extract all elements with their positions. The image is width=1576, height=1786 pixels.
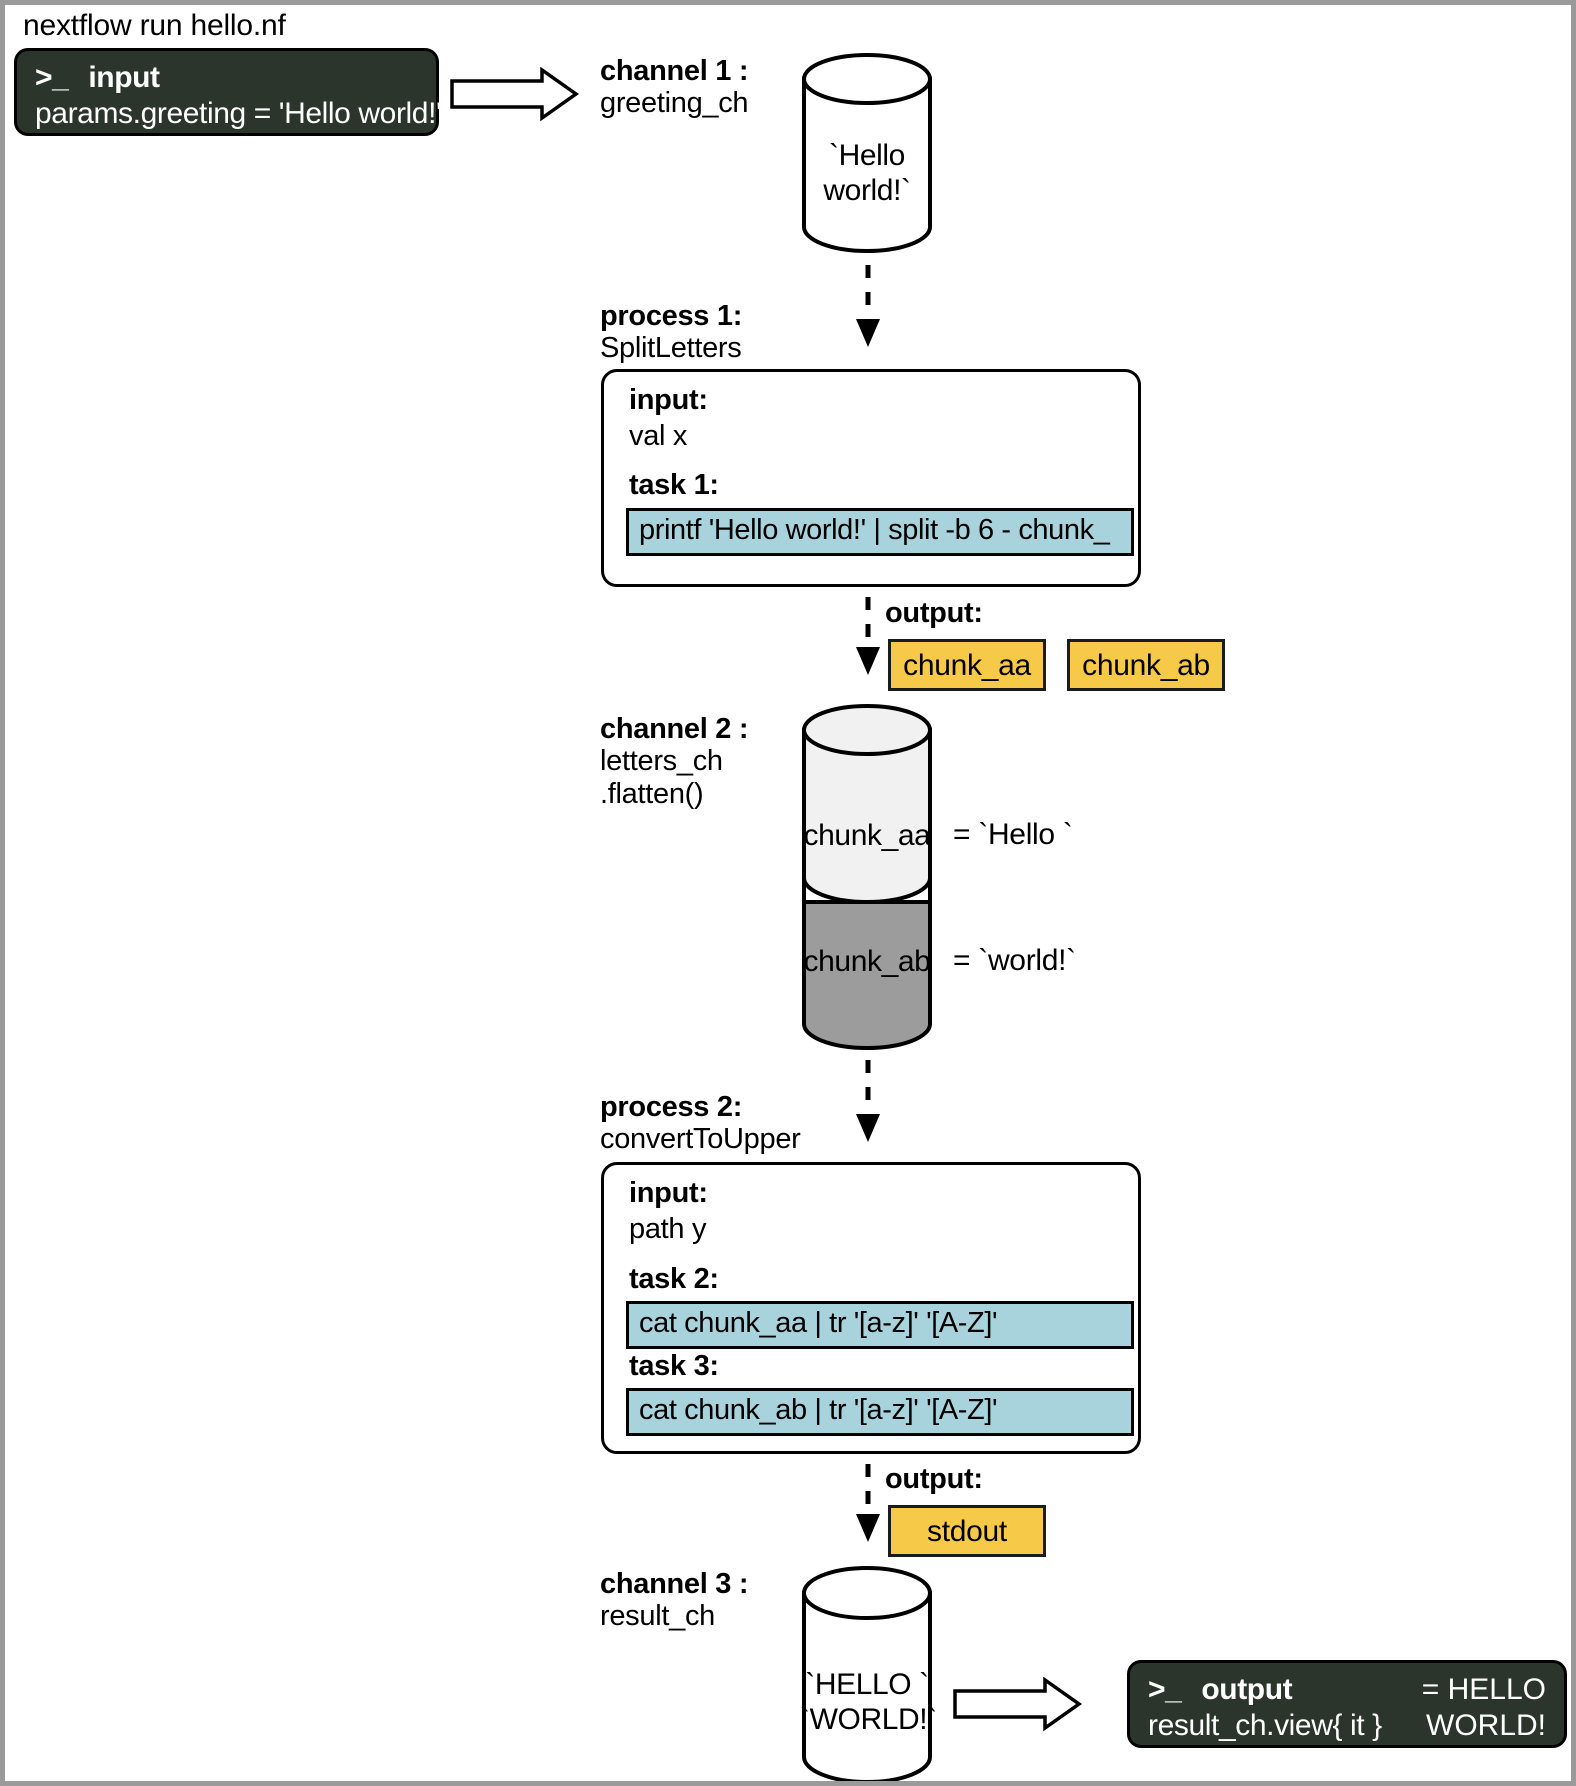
channel-2-cylinder: chunk_aa chunk_ab <box>800 702 934 1050</box>
arrow-input-to-channel1 <box>450 67 580 127</box>
process-2-task-2-label: task 2: <box>629 1263 719 1296</box>
arrow-process2-output <box>848 1462 888 1549</box>
input-terminal-title: >_ input <box>35 61 418 95</box>
process-2-input-label: input: <box>629 1177 708 1210</box>
process-2-title: process 2: <box>600 1091 801 1123</box>
channel-2-operator: .flatten() <box>600 778 748 810</box>
arrow-process1-output <box>848 595 888 682</box>
process-1-task-1-command: printf 'Hello world!' | split -b 6 - chu… <box>626 508 1134 556</box>
channel-2-title: channel 2 : <box>600 713 748 745</box>
output-terminal-title: >_ output <box>1148 1673 1292 1707</box>
process-1-output-label: output: <box>885 597 983 630</box>
input-terminal-body: params.greeting = 'Hello world!' <box>35 97 418 131</box>
output-result-line-1: = HELLO <box>1422 1673 1546 1707</box>
channel-3-name: result_ch <box>600 1600 748 1632</box>
process-1-input-value: val x <box>629 420 687 453</box>
input-terminal-box: >_ input params.greeting = 'Hello world!… <box>14 48 439 136</box>
channel-3-label: channel 3 : result_ch <box>600 1568 748 1633</box>
process-2-output-label: output: <box>885 1463 983 1496</box>
channel-1-cylinder: `Helloworld!` <box>800 53 934 253</box>
output-terminal-box: >_ output = HELLO result_ch.view{ it } W… <box>1127 1660 1567 1748</box>
arrow-channel2-to-process2 <box>848 1058 888 1149</box>
channel-2-label: channel 2 : letters_ch .flatten() <box>600 713 748 810</box>
nextflow-run-command: nextflow run hello.nf <box>23 9 286 43</box>
channel-3-title: channel 3 : <box>600 1568 748 1600</box>
process-1-name: SplitLetters <box>600 332 742 364</box>
channel-2-item-1-value: = `Hello ` <box>953 818 1073 852</box>
process-1-task-1-label: task 1: <box>629 469 719 502</box>
output-file-chunk-ab: chunk_ab <box>1067 639 1225 691</box>
output-terminal-body: result_ch.view{ it } <box>1148 1709 1382 1743</box>
process-1-label: process 1: SplitLetters <box>600 300 742 365</box>
process-2-input-value: path y <box>629 1213 706 1246</box>
process-2-task-3-command: cat chunk_ab | tr '[a-z]' '[A-Z]' <box>626 1388 1134 1436</box>
channel-2-name: letters_ch <box>600 745 748 777</box>
process-2-box: input: path y task 2: cat chunk_aa | tr … <box>601 1162 1141 1454</box>
channel-2-item-2-value: = `world!` <box>953 944 1076 978</box>
process-2-task-2-command: cat chunk_aa | tr '[a-z]' '[A-Z]' <box>626 1301 1134 1349</box>
diagram-canvas: nextflow run hello.nf >_ input params.gr… <box>0 0 1576 1786</box>
output-file-chunk-aa: chunk_aa <box>888 639 1046 691</box>
output-file-stdout: stdout <box>888 1505 1046 1557</box>
channel-3-cylinder: `HELLO ``WORLD!` <box>800 1565 934 1786</box>
process-2-name: convertToUpper <box>600 1123 801 1155</box>
prompt-icon: >_ <box>35 61 68 94</box>
process-1-input-label: input: <box>629 384 708 417</box>
arrow-channel3-to-output <box>953 1677 1083 1737</box>
prompt-icon: >_ <box>1148 1673 1181 1706</box>
arrow-channel1-to-process1 <box>848 263 888 354</box>
process-1-title: process 1: <box>600 300 742 332</box>
process-1-box: input: val x task 1: printf 'Hello world… <box>601 369 1141 587</box>
channel-1-name: greeting_ch <box>600 87 748 119</box>
process-2-task-3-label: task 3: <box>629 1350 719 1383</box>
process-2-label: process 2: convertToUpper <box>600 1091 801 1156</box>
output-result-line-2: WORLD! <box>1426 1709 1546 1743</box>
channel-1-title: channel 1 : <box>600 55 748 87</box>
channel-1-label: channel 1 : greeting_ch <box>600 55 748 120</box>
